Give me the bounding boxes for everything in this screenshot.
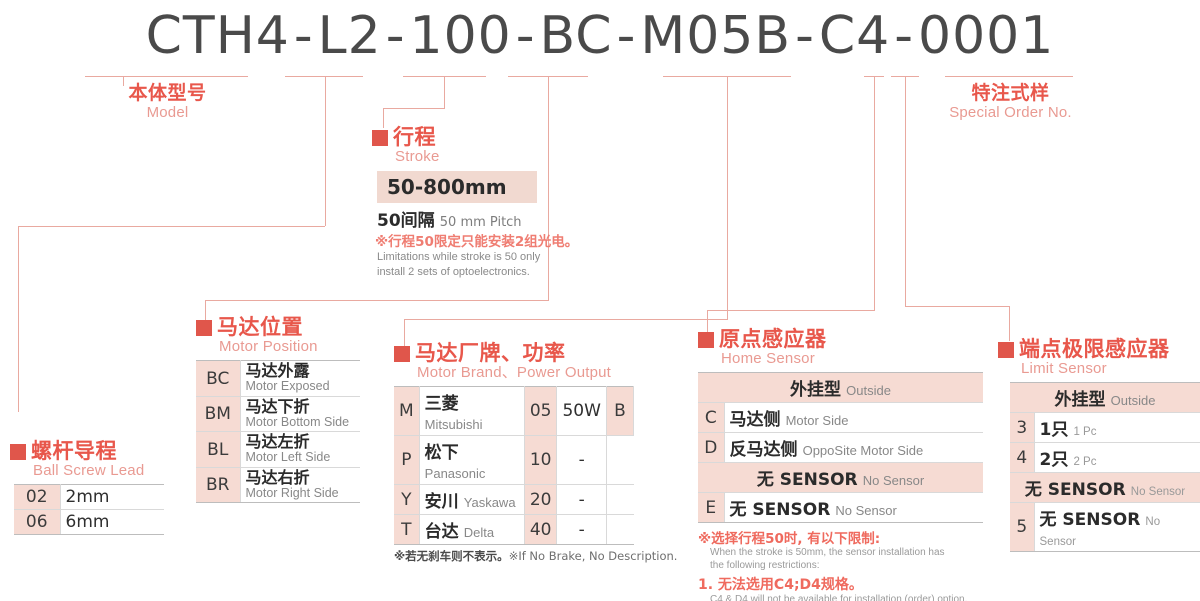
limit-sensor-band-no-sensor: 无 SENSOR No Sensor — [1010, 473, 1200, 503]
motor-position-desc-cn: 马达右折 — [246, 470, 356, 487]
brand-name-en: Delta — [464, 525, 494, 540]
motor-brand-footnote: ※若无刹车则不表示。※If No Brake, No Description. — [394, 548, 677, 564]
table-row[interactable]: 06 6mm — [14, 510, 164, 535]
motor-position-title-en: Motor Position — [219, 338, 318, 355]
table-row[interactable]: 4 2只 2 Pc — [1010, 443, 1200, 473]
model-dash-2: - — [383, 6, 409, 66]
brand-name-cn: 安川 — [425, 492, 459, 512]
connector-lead-horizontal — [18, 226, 225, 227]
limit-sensor-title-cn: 端点极限感应器 — [1019, 338, 1170, 360]
motor-position-table: BC 马达外露 Motor Exposed BM 马达下折 Motor Bott… — [196, 360, 360, 503]
limit-sensor-band1-en: Outside — [1111, 393, 1156, 408]
label-model-cn: 本体型号 — [90, 84, 245, 104]
group-stroke: 行程 Stroke 50-800mm 50间隔 50 mm Pitch ※行程5… — [372, 126, 578, 280]
stroke-pitch-cn: 50间隔 — [377, 211, 435, 231]
table-row[interactable]: BC 马达外露 Motor Exposed — [196, 361, 360, 397]
limit-sensor-title-en: Limit Sensor — [1021, 360, 1170, 377]
limit-sensor-band1-cn: 外挂型 — [1055, 390, 1106, 410]
lead-value: 2mm — [60, 485, 164, 510]
model-dash-3: - — [513, 6, 539, 66]
brake-code — [606, 515, 633, 545]
table-row[interactable]: T 台达 Delta 40 - — [394, 515, 634, 545]
ball-screw-lead-title-en: Ball Screw Lead — [33, 462, 144, 479]
stroke-note-en-line1: Limitations while stroke is 50 only — [377, 251, 578, 265]
underline-special-order — [945, 76, 1073, 77]
bullet-square-icon — [196, 320, 212, 336]
table-row[interactable]: D 反马达侧 OppoSite Motor Side — [698, 433, 983, 463]
motor-brand-title-cn: 马达厂牌、功率 — [415, 342, 611, 364]
home-sensor-band1: 外挂型 Outside — [698, 373, 983, 403]
brand-name: 松下 Panasonic — [419, 436, 524, 485]
stroke-pitch: 50间隔 50 mm Pitch — [377, 206, 578, 231]
connector-limit-sensor-horizontal — [905, 306, 1009, 307]
motor-position-code: BC — [196, 361, 240, 397]
brake-code: B — [606, 387, 633, 436]
motor-position-code: BM — [196, 396, 240, 432]
bullet-square-icon — [10, 444, 26, 460]
brand-name-cn: 台达 — [425, 522, 459, 542]
brake-code — [606, 485, 633, 515]
home-sensor-band2-cn: 无 SENSOR — [757, 470, 858, 490]
brand-name: 安川 Yaskawa — [419, 485, 524, 515]
restriction-header-en-line2: the following restrictions: — [710, 560, 998, 573]
home-sensor-band2-en: No Sensor — [863, 473, 924, 488]
motor-position-desc-en: Motor Bottom Side — [246, 416, 356, 430]
home-sensor-restrictions: ※选择行程50时, 有以下限制: When the stroke is 50mm… — [698, 527, 998, 601]
home-sensor-code: D — [698, 433, 724, 463]
model-segment-motor-brand-power: M05B — [639, 6, 792, 66]
limit-sensor-header: 端点极限感应器 Limit Sensor — [998, 338, 1200, 377]
table-row[interactable]: BL 马达左折 Motor Left Side — [196, 432, 360, 468]
connector-stroke-horizontal — [383, 108, 445, 109]
home-sensor-band-outside: 外挂型 Outside — [698, 373, 983, 403]
label-special-order-cn: 特注式样 — [938, 84, 1083, 104]
connector-limit-sensor-vertical — [905, 76, 906, 306]
power-value: - — [557, 485, 606, 515]
home-sensor-band1-cn: 外挂型 — [790, 380, 841, 400]
brand-code: P — [394, 436, 419, 485]
ball-screw-lead-header: 螺杆导程 Ball Screw Lead — [10, 440, 164, 479]
connector-motor-position-horizontal — [205, 300, 549, 301]
brake-code — [606, 436, 633, 485]
limit-sensor-desc-cn: 2只 — [1040, 450, 1069, 470]
model-segment-lead: L2 — [317, 6, 383, 66]
table-row[interactable]: Y 安川 Yaskawa 20 - — [394, 485, 634, 515]
model-segment-home-sensor: C4 — [818, 6, 891, 66]
home-sensor-table: 外挂型 Outside C 马达侧 Motor Side D 反马达侧 Oppo… — [698, 372, 983, 523]
connector-lead-riser — [325, 76, 326, 226]
group-limit-sensor: 端点极限感应器 Limit Sensor 外挂型 Outside 3 1只 1 … — [998, 338, 1200, 552]
table-row[interactable]: 5 无 SENSOR No Sensor — [1010, 503, 1200, 552]
home-sensor-header: 原点感应器 Home Sensor — [698, 328, 998, 367]
motor-position-desc: 马达外露 Motor Exposed — [240, 361, 360, 397]
stroke-note-en-line2: install 2 sets of optoelectronics. — [377, 266, 578, 280]
home-sensor-title-cn: 原点感应器 — [719, 328, 827, 350]
label-special-order-en: Special Order No. — [938, 104, 1083, 121]
model-segment-stroke: 100 — [408, 6, 512, 66]
home-sensor-desc: 无 SENSOR No Sensor — [724, 493, 983, 523]
limit-sensor-desc-en: 1 Pc — [1073, 426, 1096, 438]
home-sensor-desc-cn: 马达侧 — [730, 410, 781, 430]
connector-motor-brand-horizontal — [404, 319, 728, 320]
home-sensor-band1-en: Outside — [846, 383, 891, 398]
table-row[interactable]: BR 马达右折 Motor Right Side — [196, 467, 360, 503]
motor-brand-header: 马达厂牌、功率 Motor Brand、Power Output — [394, 342, 677, 381]
motor-position-desc: 马达右折 Motor Right Side — [240, 467, 360, 503]
underline-model — [85, 76, 248, 77]
table-row[interactable]: 02 2mm — [14, 485, 164, 510]
limit-sensor-table: 外挂型 Outside 3 1只 1 Pc 4 2只 2 Pc — [1010, 382, 1200, 552]
brand-name: 三菱 Mitsubishi — [419, 387, 524, 436]
group-motor-position: 马达位置 Motor Position BC 马达外露 Motor Expose… — [196, 316, 360, 503]
motor-brand-footnote-en: ※If No Brake, No Description. — [509, 549, 678, 563]
power-code: 40 — [524, 515, 557, 545]
table-row[interactable]: BM 马达下折 Motor Bottom Side — [196, 396, 360, 432]
limit-sensor-band2-en: No Sensor — [1131, 486, 1185, 498]
brand-name-en: Panasonic — [425, 466, 486, 481]
motor-position-header: 马达位置 Motor Position — [196, 316, 360, 355]
limit-sensor-desc-cn: 1只 — [1040, 420, 1069, 440]
limit-sensor-desc: 1只 1 Pc — [1034, 413, 1200, 443]
motor-position-desc: 马达下折 Motor Bottom Side — [240, 396, 360, 432]
bullet-square-icon — [698, 332, 714, 348]
motor-brand-power-table: M 三菱 Mitsubishi 05 50W B P 松下 Panasonic … — [394, 386, 634, 545]
motor-brand-footnote-cn: ※若无刹车则不表示。 — [394, 549, 509, 563]
stroke-pitch-en: 50 mm Pitch — [440, 215, 522, 230]
motor-position-desc-cn: 马达外露 — [246, 363, 356, 380]
home-sensor-desc: 马达侧 Motor Side — [724, 403, 983, 433]
model-segment-special-order: 0001 — [917, 6, 1055, 66]
bullet-square-icon — [372, 130, 388, 146]
connector-motor-brand-vertical — [727, 76, 728, 319]
model-number-string: CTH4-L2-100-BC-M05B-C4-0001 — [0, 6, 1200, 66]
table-row[interactable]: M 三菱 Mitsubishi 05 50W B — [394, 387, 634, 436]
model-dash-1: - — [291, 6, 317, 66]
home-sensor-desc-cn: 反马达侧 — [730, 440, 798, 460]
power-code: 10 — [524, 436, 557, 485]
group-motor-brand-power: 马达厂牌、功率 Motor Brand、Power Output M 三菱 Mi… — [394, 342, 677, 564]
stroke-header: 行程 Stroke — [372, 126, 578, 165]
label-model-en: Model — [90, 104, 245, 121]
stroke-title-en: Stroke — [395, 148, 440, 165]
motor-position-title-cn: 马达位置 — [217, 316, 318, 338]
restriction-item-1-en-line1: C4 & D4 will not be available for instal… — [710, 594, 998, 601]
motor-position-desc-cn: 马达左折 — [246, 434, 356, 451]
table-row[interactable]: 3 1只 1 Pc — [1010, 413, 1200, 443]
motor-position-desc-en: Motor Right Side — [246, 487, 356, 501]
restriction-header-cn: ※选择行程50时, 有以下限制: — [698, 527, 998, 547]
home-sensor-desc: 反马达侧 OppoSite Motor Side — [724, 433, 983, 463]
bullet-square-icon — [998, 342, 1014, 358]
limit-sensor-desc: 2只 2 Pc — [1034, 443, 1200, 473]
model-dash-6: - — [891, 6, 917, 66]
table-row[interactable]: P 松下 Panasonic 10 - — [394, 436, 634, 485]
brand-name-en: Mitsubishi — [425, 417, 483, 432]
brand-name-en: Yaskawa — [464, 495, 516, 510]
power-value: 50W — [557, 387, 606, 436]
brand-name-cn: 三菱 — [425, 394, 459, 414]
brand-code: M — [394, 387, 419, 436]
connector-stroke-vertical — [444, 76, 445, 108]
motor-position-desc-en: Motor Left Side — [246, 451, 356, 465]
label-model: 本体型号 Model — [90, 84, 245, 121]
model-segment-model: CTH4 — [145, 6, 291, 66]
motor-position-code: BR — [196, 467, 240, 503]
limit-sensor-code: 5 — [1010, 503, 1034, 552]
brand-name: 台达 Delta — [419, 515, 524, 545]
lead-code: 02 — [14, 485, 60, 510]
connector-lead-drop — [18, 226, 19, 412]
home-sensor-band2: 无 SENSOR No Sensor — [698, 463, 983, 493]
home-sensor-desc-cn: 无 SENSOR — [730, 500, 831, 520]
home-sensor-code: C — [698, 403, 724, 433]
power-value: - — [557, 436, 606, 485]
bullet-square-icon — [394, 346, 410, 362]
motor-position-code: BL — [196, 432, 240, 468]
lead-value: 6mm — [60, 510, 164, 535]
brand-code: T — [394, 515, 419, 545]
limit-sensor-code: 4 — [1010, 443, 1034, 473]
table-row[interactable]: C 马达侧 Motor Side — [698, 403, 983, 433]
motor-position-desc: 马达左折 Motor Left Side — [240, 432, 360, 468]
lead-code: 06 — [14, 510, 60, 535]
power-code: 20 — [524, 485, 557, 515]
power-code: 05 — [524, 387, 557, 436]
label-special-order: 特注式样 Special Order No. — [938, 84, 1083, 121]
underline-lead — [285, 76, 363, 77]
connector-home-sensor-vertical — [874, 76, 875, 310]
connector-stroke-drop — [383, 108, 384, 128]
limit-sensor-band-outside: 外挂型 Outside — [1010, 383, 1200, 413]
model-dash-5: - — [792, 6, 818, 66]
stroke-note-cn: ※行程50限定只能安装2组光电。 — [375, 234, 578, 250]
limit-sensor-code: 3 — [1010, 413, 1034, 443]
group-ball-screw-lead: 螺杆导程 Ball Screw Lead 02 2mm 06 6mm — [10, 440, 164, 535]
home-sensor-desc-en: No Sensor — [835, 503, 896, 518]
connector-lead-join — [225, 226, 325, 227]
connector-home-sensor-horizontal — [707, 310, 875, 311]
model-segment-motor-position: BC — [539, 6, 614, 66]
home-sensor-desc-en: OppoSite Motor Side — [803, 443, 924, 458]
limit-sensor-desc: 无 SENSOR No Sensor — [1034, 503, 1200, 552]
power-value: - — [557, 515, 606, 545]
restriction-item-1-cn: 1. 无法选用C4;D4规格。 — [698, 574, 998, 594]
limit-sensor-band2-cn: 无 SENSOR — [1025, 480, 1126, 500]
stroke-range-box: 50-800mm — [377, 171, 537, 203]
home-sensor-code: E — [698, 493, 724, 523]
connector-limit-sensor-drop — [1009, 306, 1010, 341]
table-row[interactable]: E 无 SENSOR No Sensor — [698, 493, 983, 523]
brand-name-cn: 松下 — [425, 443, 459, 463]
limit-sensor-band2: 无 SENSOR No Sensor — [1010, 473, 1200, 503]
model-number-breakdown-diagram: CTH4-L2-100-BC-M05B-C4-0001 本体型号 Model 特… — [0, 0, 1200, 601]
motor-position-desc-en: Motor Exposed — [246, 380, 356, 394]
limit-sensor-desc-en: 2 Pc — [1073, 456, 1096, 468]
stroke-title-cn: 行程 — [393, 126, 440, 148]
motor-brand-title-en: Motor Brand、Power Output — [417, 364, 611, 381]
group-home-sensor: 原点感应器 Home Sensor 外挂型 Outside C 马达侧 Moto… — [698, 328, 998, 601]
model-dash-4: - — [614, 6, 640, 66]
home-sensor-band-no-sensor: 无 SENSOR No Sensor — [698, 463, 983, 493]
motor-position-desc-cn: 马达下折 — [246, 399, 356, 416]
home-sensor-desc-en: Motor Side — [786, 413, 849, 428]
brand-code: Y — [394, 485, 419, 515]
ball-screw-lead-title-cn: 螺杆导程 — [31, 440, 144, 462]
ball-screw-lead-table: 02 2mm 06 6mm — [14, 484, 164, 535]
limit-sensor-desc-cn: 无 SENSOR — [1040, 510, 1141, 530]
home-sensor-title-en: Home Sensor — [721, 350, 827, 367]
restriction-header-en-line1: When the stroke is 50mm, the sensor inst… — [710, 547, 998, 560]
limit-sensor-band1: 外挂型 Outside — [1010, 383, 1200, 413]
